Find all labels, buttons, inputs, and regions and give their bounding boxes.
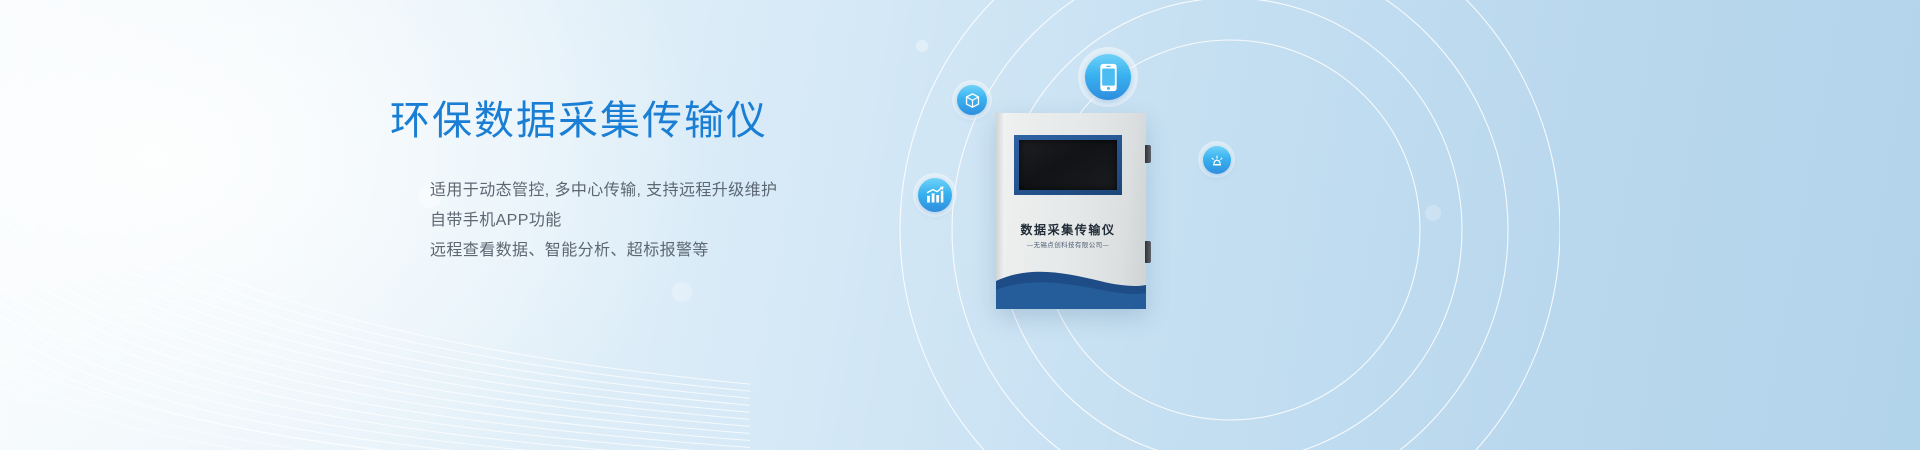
device-hinge-bottom — [1145, 241, 1151, 263]
device-body: 数据采集传输仪 —无锡点创科技有限公司— — [996, 113, 1146, 309]
page-title: 环保数据采集传输仪 — [390, 96, 1010, 146]
chart-icon-core — [918, 178, 952, 212]
alarm-icon-core — [1203, 146, 1231, 174]
product-banner: 环保数据采集传输仪 适用于动态管控, 多中心传输, 支持远程升级维护 自带手机A… — [0, 0, 1920, 450]
cube-icon — [952, 80, 992, 120]
device-sublabel: —无锡点创科技有限公司— — [996, 239, 1140, 249]
device-hinge-top — [1145, 145, 1151, 163]
list-item: 远程查看数据、智能分析、超标报警等 — [430, 236, 1010, 266]
device-screen-bezel — [1014, 135, 1122, 195]
device-screen — [1019, 140, 1117, 190]
bokeh-dot — [1425, 205, 1441, 221]
device-image: 数据采集传输仪 —无锡点创科技有限公司— — [996, 113, 1146, 309]
phone-icon — [1078, 47, 1138, 107]
bokeh-dot — [672, 282, 692, 302]
chart-icon — [913, 173, 957, 217]
phone-icon-core — [1085, 54, 1131, 100]
cube-icon-core — [957, 85, 987, 115]
device-wave-footer — [996, 261, 1146, 309]
alarm-icon — [1198, 141, 1235, 178]
bokeh-dot — [916, 40, 928, 52]
device-label: 数据采集传输仪 — [996, 221, 1140, 238]
